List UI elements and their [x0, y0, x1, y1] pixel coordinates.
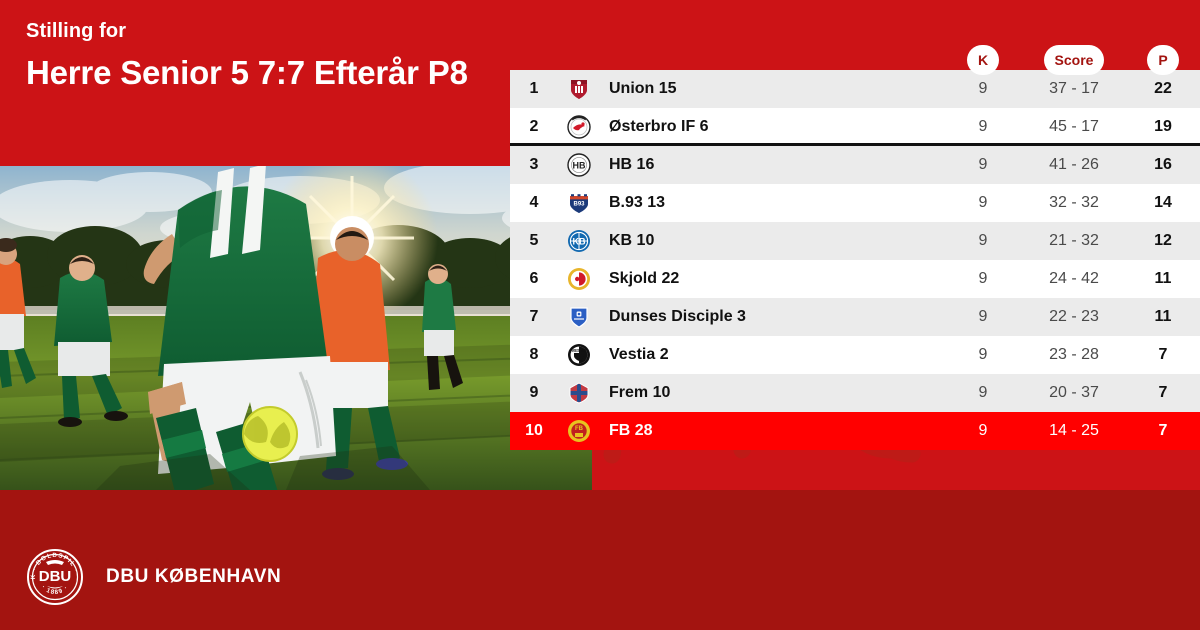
table-row[interactable]: 3 HB HB 16 9 41 - 26 16 [510, 146, 1200, 184]
row-score: 22 - 23 [1022, 308, 1126, 326]
svg-text:B93: B93 [573, 202, 585, 208]
row-team-name: KB 10 [600, 232, 944, 250]
row-score: 24 - 42 [1022, 270, 1126, 288]
hb-crest-icon: HB [558, 153, 600, 177]
row-score: 14 - 25 [1022, 422, 1126, 440]
row-team-name: Frem 10 [600, 384, 944, 402]
row-team-name: Dunses Disciple 3 [600, 308, 944, 326]
row-points: 11 [1126, 270, 1200, 288]
row-position: 5 [510, 232, 558, 250]
row-points: 22 [1126, 80, 1200, 98]
table-row[interactable]: 4 B93 B.93 13 9 32 - 32 14 [510, 184, 1200, 222]
osterbro-if-crest-icon [558, 115, 600, 139]
table-row-highlighted[interactable]: 10 FB FB 28 9 14 - 25 7 [510, 412, 1200, 450]
row-played: 9 [944, 194, 1022, 212]
table-row[interactable]: 5 KB KB 10 9 21 - 32 12 [510, 222, 1200, 260]
row-points: 16 [1126, 156, 1200, 174]
row-team-name: HB 16 [600, 156, 944, 174]
row-position: 4 [510, 194, 558, 212]
column-header-played[interactable]: K [967, 45, 999, 75]
union-crest-icon [558, 77, 600, 101]
row-score: 23 - 28 [1022, 346, 1126, 364]
row-points: 7 [1126, 422, 1200, 440]
dbu-seal-logo-icon: DANSK · BOLDSPIL · UNION · 1889 · DBU [26, 548, 84, 606]
row-played: 9 [944, 80, 1022, 98]
page-title: Herre Senior 5 7:7 Efterår P8 [26, 53, 496, 93]
standings-table: 1 Union 15 9 37 - 17 22 2 Østerbro IF 6 … [510, 70, 1200, 450]
svg-text:FB: FB [575, 426, 584, 432]
row-score: 20 - 37 [1022, 384, 1126, 402]
row-points: 7 [1126, 346, 1200, 364]
row-position: 8 [510, 346, 558, 364]
row-score: 32 - 32 [1022, 194, 1126, 212]
table-row[interactable]: 6 Skjold 22 9 24 - 42 11 [510, 260, 1200, 298]
row-position: 2 [510, 118, 558, 136]
svg-text:· 1889 ·: · 1889 · [40, 584, 70, 596]
table-row[interactable]: 2 Østerbro IF 6 9 45 - 17 19 [510, 108, 1200, 146]
kb-crest-icon: KB [558, 229, 600, 253]
row-played: 9 [944, 270, 1022, 288]
row-points: 7 [1126, 384, 1200, 402]
skjold-crest-icon [558, 267, 600, 291]
fb-crest-icon: FB [558, 419, 600, 443]
row-played: 9 [944, 384, 1022, 402]
row-position: 7 [510, 308, 558, 326]
table-row[interactable]: 8 VESTIA Vestia 2 9 23 - 28 7 [510, 336, 1200, 374]
row-position: 9 [510, 384, 558, 402]
table-row[interactable]: 1 Union 15 9 37 - 17 22 [510, 70, 1200, 108]
dunses-disciple-crest-icon [558, 305, 600, 329]
footer-label: DBU KØBENHAVN [106, 566, 281, 588]
header-block: Stilling for Herre Senior 5 7:7 Efterår … [26, 18, 496, 93]
svg-text:VESTIA: VESTIA [571, 348, 586, 353]
row-position: 1 [510, 80, 558, 98]
row-position: 6 [510, 270, 558, 288]
svg-text:KB: KB [573, 237, 586, 247]
row-played: 9 [944, 308, 1022, 326]
vestia-crest-icon: VESTIA [558, 343, 600, 367]
row-points: 14 [1126, 194, 1200, 212]
row-points: 11 [1126, 308, 1200, 326]
row-score: 41 - 26 [1022, 156, 1126, 174]
row-team-name: B.93 13 [600, 194, 944, 212]
frem-crest-icon [558, 381, 600, 405]
row-score: 45 - 17 [1022, 118, 1126, 136]
row-played: 9 [944, 422, 1022, 440]
row-team-name: Union 15 [600, 80, 944, 98]
row-points: 19 [1126, 118, 1200, 136]
row-team-name: FB 28 [600, 422, 944, 440]
column-header-points[interactable]: P [1147, 45, 1178, 75]
row-played: 9 [944, 156, 1022, 174]
row-team-name: Skjold 22 [600, 270, 944, 288]
row-position: 3 [510, 156, 558, 174]
row-points: 12 [1126, 232, 1200, 250]
row-score: 37 - 17 [1022, 80, 1126, 98]
column-header-score[interactable]: Score [1044, 45, 1105, 75]
row-played: 9 [944, 232, 1022, 250]
row-played: 9 [944, 118, 1022, 136]
svg-text:DBU: DBU [39, 568, 72, 585]
b93-crest-icon: B93 [558, 191, 600, 215]
row-score: 21 - 32 [1022, 232, 1126, 250]
football-match-photo [0, 166, 592, 490]
table-row[interactable]: 7 Dunses Disciple 3 9 22 - 23 11 [510, 298, 1200, 336]
table-row[interactable]: 9 Frem 10 9 20 - 37 7 [510, 374, 1200, 412]
row-team-name: Østerbro IF 6 [600, 118, 944, 136]
svg-text:HB: HB [573, 161, 586, 171]
row-position: 10 [510, 422, 558, 440]
row-played: 9 [944, 346, 1022, 364]
row-team-name: Vestia 2 [600, 346, 944, 364]
footer-brand: DANSK · BOLDSPIL · UNION · 1889 · DBU DB… [26, 546, 281, 608]
header-kicker: Stilling for [26, 18, 496, 44]
